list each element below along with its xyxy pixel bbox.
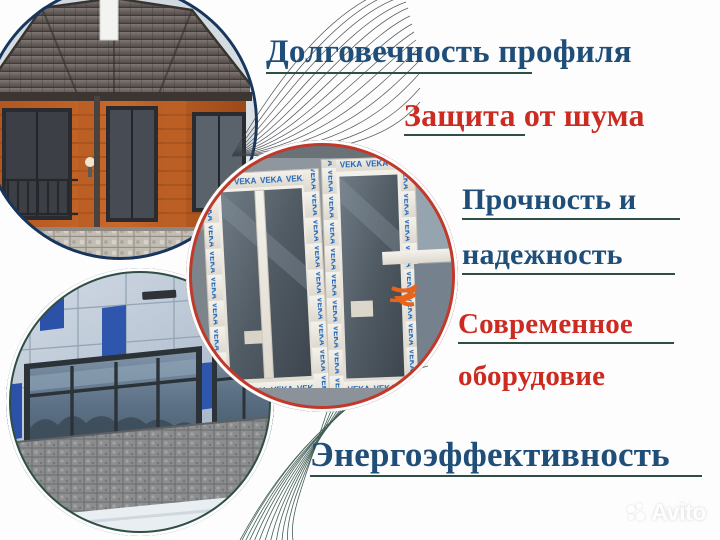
headline-underline — [462, 218, 680, 220]
headline-energy-efficiency-text: Энергоэффективность — [310, 437, 702, 472]
headline-underline — [462, 273, 675, 275]
headline-strength-text: Прочность и — [462, 185, 680, 215]
headline-energy-efficiency: Энергоэффективность — [310, 437, 702, 477]
headline-strength: Прочность и — [462, 185, 680, 220]
headline-noise-protection: Защита от шума — [404, 99, 645, 136]
headline-underline — [458, 342, 674, 344]
headline-durability: Долговечность профиля — [266, 36, 632, 74]
headline-reliability: надежность — [462, 240, 675, 275]
promo-image: VEKA VEKA — [0, 0, 720, 540]
headline-underline — [404, 134, 525, 136]
headline-modern-text: Современное — [458, 310, 674, 339]
headline-equipment-text: оборудовие — [458, 362, 605, 391]
headline-underline — [310, 475, 702, 477]
headline-durability-text: Долговечность профиля — [266, 36, 632, 69]
veka-windows-photo: VEKA VEKA — [186, 140, 458, 412]
headline-noise-protection-text: Защита от шума — [404, 99, 645, 131]
headline-modern: Современное — [458, 310, 674, 344]
photo-circle-veka-windows: VEKA VEKA — [186, 140, 458, 412]
headline-underline — [266, 72, 532, 74]
headline-reliability-text: надежность — [462, 240, 675, 270]
headline-equipment: оборудовие — [458, 362, 605, 391]
